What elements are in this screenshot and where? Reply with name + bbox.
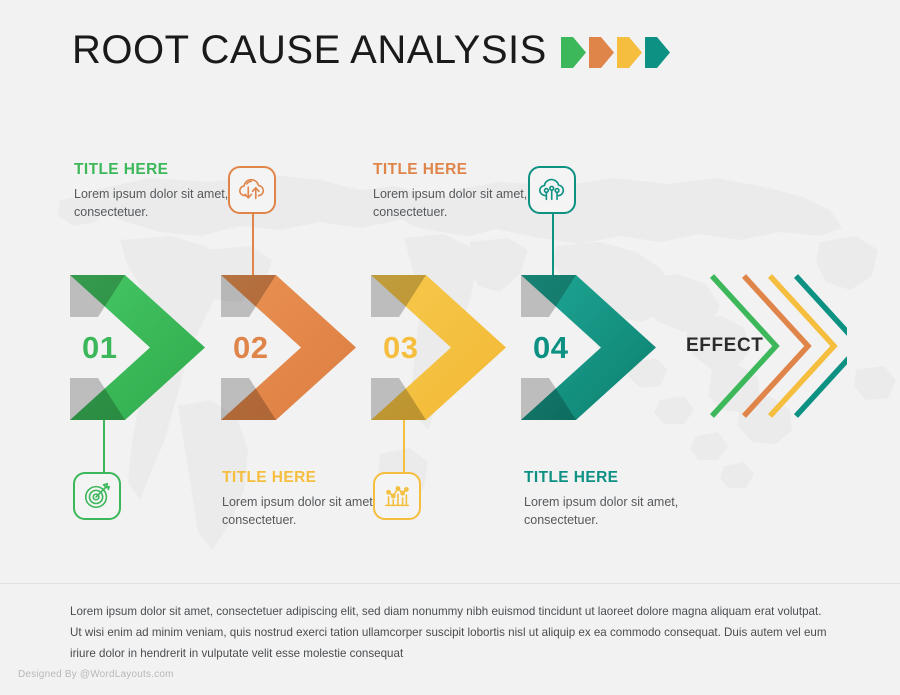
step-1-text: TITLE HERE Lorem ipsum dolor sit amet, c… [74, 162, 244, 221]
step-4-connector [552, 213, 554, 275]
step-2-description: Lorem ipsum dolor sit amet, consectetuer… [373, 185, 543, 221]
step-4-chevron[interactable]: 04 [521, 275, 686, 420]
step-2-chevron[interactable]: 02 [221, 275, 386, 420]
step-3-connector [403, 420, 405, 472]
step-1-chevron[interactable]: 01 [70, 275, 235, 420]
step-4-text: TITLE HERE Lorem ipsum dolor sit amet, c… [524, 470, 694, 529]
page-title: ROOT CAUSE ANALYSIS [72, 30, 547, 70]
step-2-number: 02 [233, 330, 268, 366]
step-4-title: TITLE HERE [524, 470, 694, 486]
effect-group[interactable]: EFFECT [672, 272, 847, 420]
cloud-transfer-icon [237, 175, 267, 205]
step-3-text: TITLE HERE Lorem ipsum dolor sit amet, c… [222, 470, 392, 529]
bottom-paragraph: Lorem ipsum dolor sit amet, consectetuer… [70, 601, 835, 664]
infographic-canvas: ROOT CAUSE ANALYSIS TITLE HERE Lorem ips… [0, 0, 900, 695]
bar-chart-icon [382, 481, 412, 511]
target-icon [82, 481, 112, 511]
effect-label: EFFECT [686, 335, 764, 357]
step-1-number: 01 [82, 330, 117, 366]
step-4-icon-badge[interactable] [528, 166, 576, 214]
step-3-icon-badge[interactable] [373, 472, 421, 520]
step-3-description: Lorem ipsum dolor sit amet, consectetuer… [222, 493, 392, 529]
step-2-title: TITLE HERE [373, 162, 543, 178]
step-1-description: Lorem ipsum dolor sit amet, consectetuer… [74, 185, 244, 221]
title-arrow-group [561, 37, 670, 68]
step-4-description: Lorem ipsum dolor sit amet, consectetuer… [524, 493, 694, 529]
step-2-icon-badge[interactable] [228, 166, 276, 214]
step-1-connector [103, 420, 105, 472]
title-arrow-1-icon [561, 37, 586, 68]
step-1-title: TITLE HERE [74, 162, 244, 178]
step-1-icon-badge[interactable] [73, 472, 121, 520]
header: ROOT CAUSE ANALYSIS [72, 30, 670, 70]
step-2-text: TITLE HERE Lorem ipsum dolor sit amet, c… [373, 162, 543, 221]
step-2-connector [252, 213, 254, 275]
step-4-number: 04 [533, 330, 568, 366]
step-3-chevron[interactable]: 03 [371, 275, 536, 420]
step-3-title: TITLE HERE [222, 470, 392, 486]
bottom-divider [0, 583, 900, 584]
title-arrow-4-icon [645, 37, 670, 68]
cloud-network-icon [537, 175, 567, 205]
footer-credit: Designed By @WordLayouts.com [18, 669, 174, 680]
title-arrow-2-icon [589, 37, 614, 68]
step-3-number: 03 [383, 330, 418, 366]
title-arrow-3-icon [617, 37, 642, 68]
